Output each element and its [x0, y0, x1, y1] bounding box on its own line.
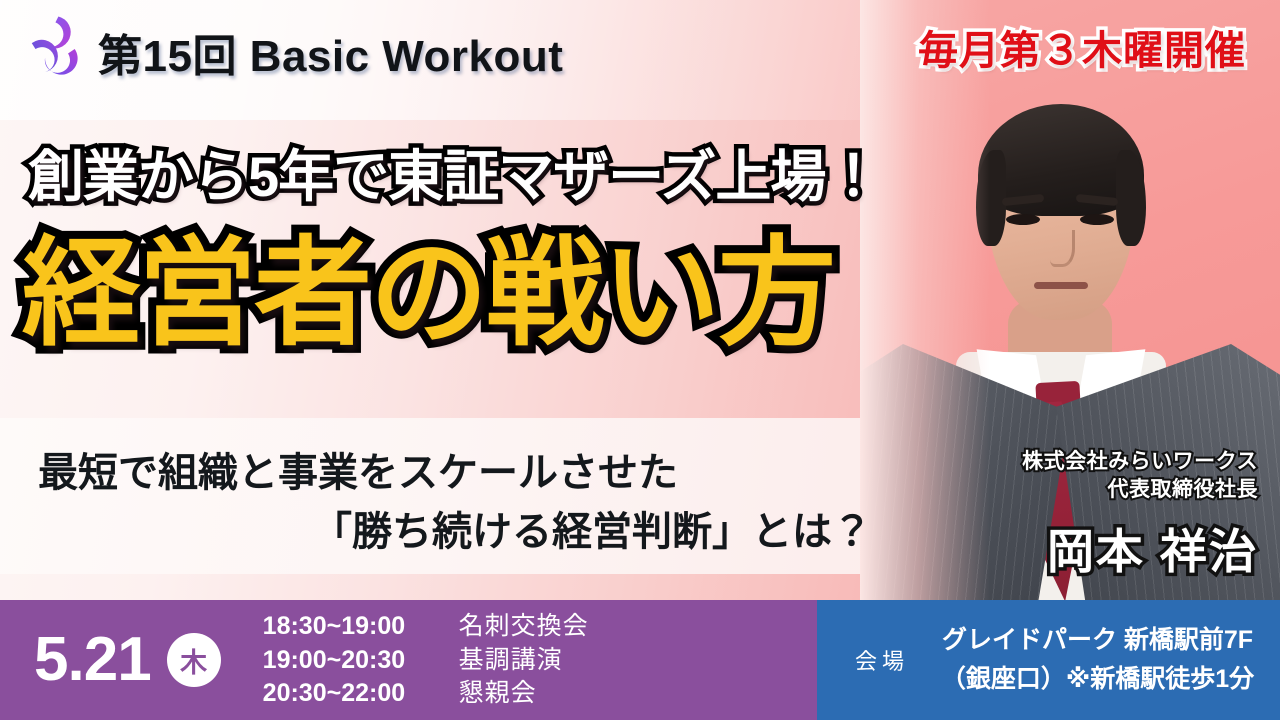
portrait-eye-right: [1080, 214, 1114, 225]
page-title: 第15回 Basic Workout: [98, 20, 563, 84]
schedule-time: 19:00~20:30: [263, 644, 459, 677]
speaker-organization: 株式会社みらいワークス: [1022, 448, 1258, 476]
event-date: 5.21: [34, 629, 151, 691]
hero-lead: 最短で組織と事業をスケールさせた 「勝ち続ける経営判断」とは？: [30, 444, 890, 562]
portrait-nose: [1050, 230, 1075, 267]
recurrence-badge: 毎月第３木曜開催: [918, 18, 1246, 76]
hero-lead-line1: 最短で組織と事業をスケールさせた: [30, 444, 890, 503]
hero-headline: 経営者の戦い方: [22, 228, 834, 360]
seminar-banner: 第15回 Basic Workout 毎月第３木曜開催 創業から5年で東証マザー…: [0, 0, 1280, 720]
schedule-row: 20:30~22:00 懇親会: [263, 677, 589, 710]
venue-tag-label: 会場: [855, 644, 909, 676]
venue-bar: 会場 グレイドパーク 新橋駅前7F （銀座口）※新橋駅徒歩1分: [817, 600, 1280, 720]
mirai-works-logo-icon: [14, 12, 88, 86]
portrait-mouth: [1034, 282, 1088, 289]
venue-address: グレイドパーク 新橋駅前7F （銀座口）※新橋駅徒歩1分: [925, 621, 1280, 699]
schedule-time: 20:30~22:00: [263, 677, 459, 710]
schedule-label: 名刺交換会: [459, 610, 589, 643]
hero-kicker: 創業から5年で東証マザーズ上場！: [28, 132, 880, 213]
portrait-eye-left: [1006, 214, 1040, 225]
schedule-label: 懇親会: [459, 677, 537, 710]
hero-lead-line2: 「勝ち続ける経営判断」とは？: [30, 503, 890, 562]
footer-bar: 5.21 木 18:30~19:00 名刺交換会 19:00~20:30 基調講…: [0, 600, 1280, 720]
date-schedule-bar: 5.21 木 18:30~19:00 名刺交換会 19:00~20:30 基調講…: [0, 600, 817, 720]
schedule-time: 18:30~19:00: [263, 610, 459, 643]
event-day-of-week-badge: 木: [167, 633, 221, 687]
speaker-name: 岡本 祥治: [1022, 513, 1258, 582]
venue-address-line1: グレイドパーク 新橋駅前7F: [925, 621, 1270, 660]
schedule-row: 18:30~19:00 名刺交換会: [263, 610, 589, 643]
speaker-role: 代表取締役社長: [1022, 476, 1258, 504]
schedule-list: 18:30~19:00 名刺交換会 19:00~20:30 基調講演 20:30…: [263, 610, 589, 710]
schedule-row: 19:00~20:30 基調講演: [263, 644, 589, 677]
speaker-caption: 株式会社みらいワークス 代表取締役社長 岡本 祥治: [1022, 448, 1258, 582]
schedule-label: 基調講演: [459, 644, 563, 677]
venue-address-line2: （銀座口）※新橋駅徒歩1分: [925, 660, 1270, 699]
